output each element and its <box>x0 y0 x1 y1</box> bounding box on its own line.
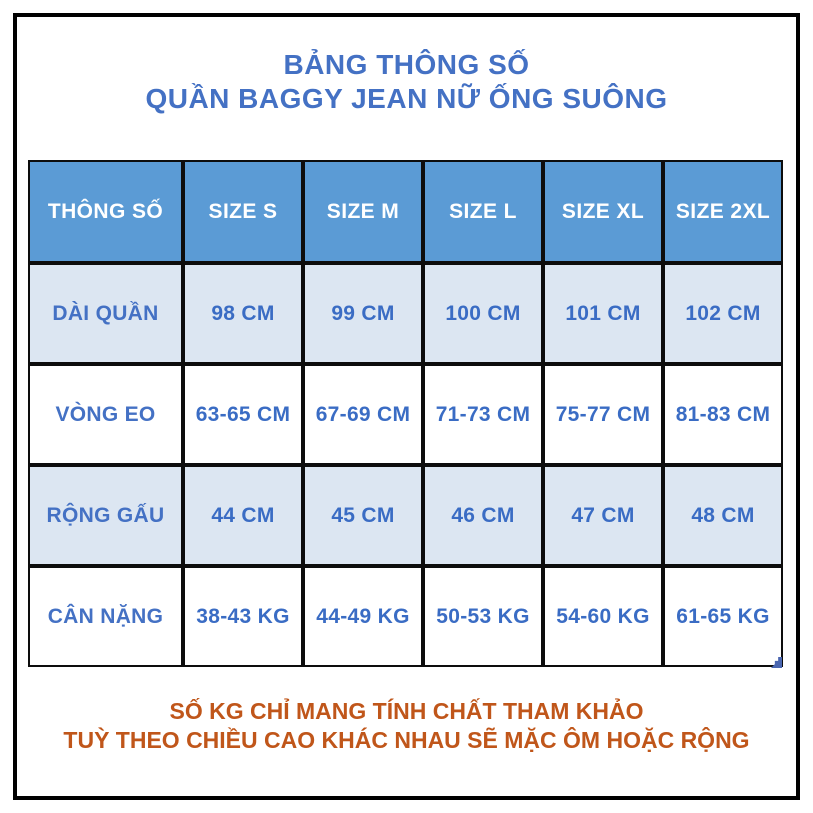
table-row: VÒNG EO 63-65 CM 67-69 CM 71-73 CM 75-77… <box>28 364 783 465</box>
cell-rong-gau-m: 45 CM <box>303 465 423 566</box>
row-label-vong-eo: VÒNG EO <box>28 364 183 465</box>
cell-vong-eo-s: 63-65 CM <box>183 364 303 465</box>
cell-rong-gau-xl: 47 CM <box>543 465 663 566</box>
cell-dai-quan-m: 99 CM <box>303 263 423 364</box>
cell-can-nang-xl: 54-60 KG <box>543 566 663 667</box>
table-header: THÔNG SỐ SIZE S SIZE M SIZE L SIZE XL SI… <box>28 160 783 263</box>
chart-title-line-1: BẢNG THÔNG SỐ <box>0 48 813 82</box>
row-label-rong-gau: RỘNG GẤU <box>28 465 183 566</box>
footer-note-line-2: TUỲ THEO CHIỀU CAO KHÁC NHAU SẼ MẶC ÔM H… <box>0 726 813 755</box>
chart-title-line-2: QUẦN BAGGY JEAN NỮ ỐNG SUÔNG <box>0 82 813 116</box>
chart-title-block: BẢNG THÔNG SỐ QUẦN BAGGY JEAN NỮ ỐNG SUÔ… <box>0 48 813 116</box>
table-body: DÀI QUẦN 98 CM 99 CM 100 CM 101 CM 102 C… <box>28 263 783 667</box>
cell-vong-eo-m: 67-69 CM <box>303 364 423 465</box>
table-row: DÀI QUẦN 98 CM 99 CM 100 CM 101 CM 102 C… <box>28 263 783 364</box>
column-header-size-l: SIZE L <box>423 160 543 263</box>
cell-dai-quan-xl: 101 CM <box>543 263 663 364</box>
cell-vong-eo-2xl: 81-83 CM <box>663 364 783 465</box>
row-label-dai-quan: DÀI QUẦN <box>28 263 183 364</box>
cell-dai-quan-l: 100 CM <box>423 263 543 364</box>
size-chart-page: BẢNG THÔNG SỐ QUẦN BAGGY JEAN NỮ ỐNG SUÔ… <box>0 0 813 813</box>
cell-rong-gau-s: 44 CM <box>183 465 303 566</box>
column-header-size-xl: SIZE XL <box>543 160 663 263</box>
table-row: RỘNG GẤU 44 CM 45 CM 46 CM 47 CM 48 CM <box>28 465 783 566</box>
footer-note-line-1: SỐ KG CHỈ MANG TÍNH CHẤT THAM KHẢO <box>0 697 813 726</box>
table-row: CÂN NẶNG 38-43 KG 44-49 KG 50-53 KG 54-6… <box>28 566 783 667</box>
column-header-size-m: SIZE M <box>303 160 423 263</box>
cell-vong-eo-l: 71-73 CM <box>423 364 543 465</box>
cell-can-nang-s: 38-43 KG <box>183 566 303 667</box>
cell-vong-eo-xl: 75-77 CM <box>543 364 663 465</box>
table-header-row: THÔNG SỐ SIZE S SIZE M SIZE L SIZE XL SI… <box>28 160 783 263</box>
footer-note-block: SỐ KG CHỈ MANG TÍNH CHẤT THAM KHẢO TUỲ T… <box>0 697 813 756</box>
column-header-size-2xl: SIZE 2XL <box>663 160 783 263</box>
cell-can-nang-2xl: 61-65 KG <box>663 566 783 667</box>
column-header-size-s: SIZE S <box>183 160 303 263</box>
size-chart-table: THÔNG SỐ SIZE S SIZE M SIZE L SIZE XL SI… <box>28 160 783 667</box>
cell-can-nang-m: 44-49 KG <box>303 566 423 667</box>
cell-rong-gau-2xl: 48 CM <box>663 465 783 566</box>
cell-dai-quan-s: 98 CM <box>183 263 303 364</box>
column-header-param: THÔNG SỐ <box>28 160 183 263</box>
cell-dai-quan-2xl: 102 CM <box>663 263 783 364</box>
row-label-can-nang: CÂN NẶNG <box>28 566 183 667</box>
cell-can-nang-l: 50-53 KG <box>423 566 543 667</box>
cell-rong-gau-l: 46 CM <box>423 465 543 566</box>
